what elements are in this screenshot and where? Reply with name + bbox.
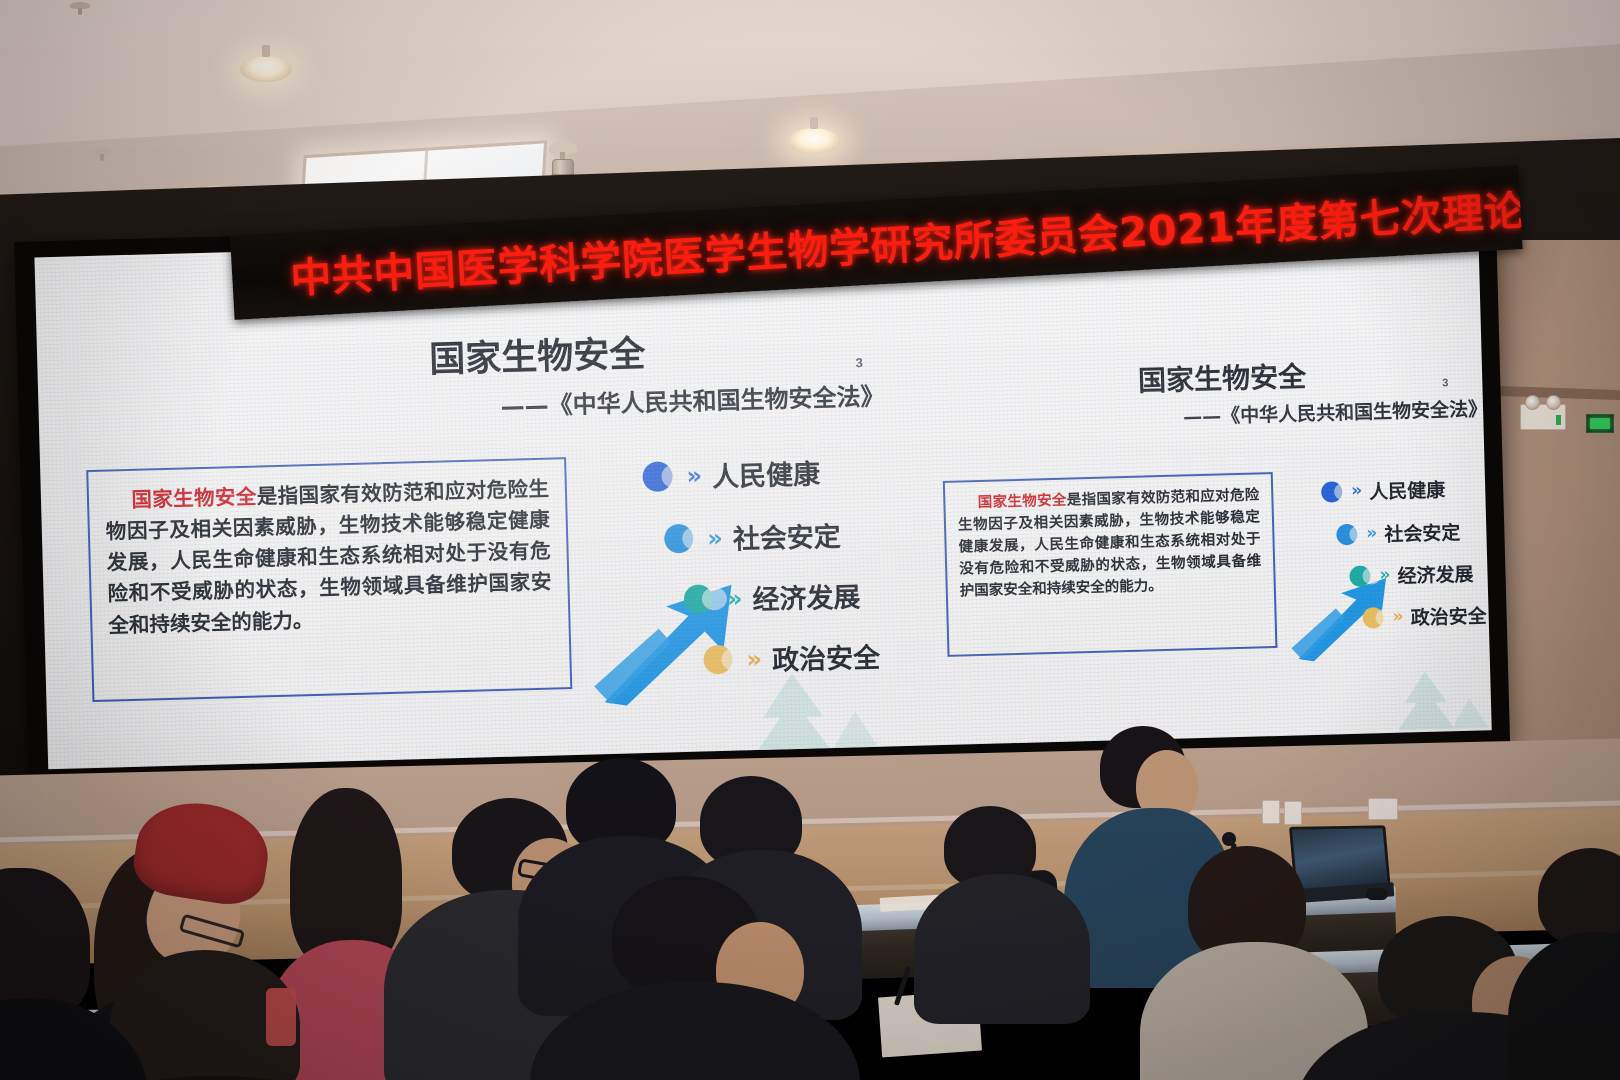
bullet-dot-icon (684, 584, 714, 614)
bullet-list: » 人民健康 » 社会安定 » 经济发展 » (1317, 474, 1487, 632)
pine-tree-decoration (1388, 664, 1492, 733)
wall-socket[interactable] (1284, 801, 1302, 825)
bullet-list: » 人民健康 » 社会安定 » 经济发展 » (636, 451, 880, 681)
microphone-capsule (1222, 832, 1236, 846)
exit-sign (1586, 414, 1614, 433)
definition-box: 国家生物安全是指国家有效防范和应对危险生物因子及相关因素威胁，生物技术能够稳定健… (943, 472, 1278, 657)
bullet-dot-icon (1321, 481, 1343, 503)
chevron-icon: » (686, 463, 702, 487)
slide-page-number: 3 (1442, 377, 1448, 389)
sprinkler-head (70, 2, 90, 12)
slide-left: 国家生物安全 ——《中华人民共和国生物安全法》 3 国家生物安全是指国家有效防范… (34, 234, 908, 769)
chevron-icon: » (746, 646, 762, 670)
ceiling-downlight (240, 56, 292, 82)
wall-socket[interactable] (1368, 798, 1398, 820)
sprinkler-head (92, 148, 112, 158)
chevron-icon: » (727, 586, 743, 610)
bullet-dot-icon (1336, 524, 1358, 546)
bullet-label: 社会安定 (732, 515, 841, 557)
ceiling-downlight (788, 128, 840, 154)
bullet-dot-icon (703, 645, 733, 675)
definition-term: 国家生物安全 (131, 485, 257, 512)
bullet-item: » 人民健康 (642, 451, 875, 496)
chevron-icon: » (1366, 525, 1377, 542)
chevron-icon: » (1351, 483, 1362, 500)
slide-title: 国家生物安全 (1138, 355, 1307, 400)
chevron-icon: » (1392, 609, 1403, 626)
computer-mouse[interactable] (1366, 888, 1388, 900)
slide-subtitle: ——《中华人民共和国生物安全法》 (500, 377, 885, 422)
bullet-item: » 人民健康 (1321, 474, 1484, 505)
bullet-dot-icon (1349, 565, 1371, 587)
slide-right-duplicate: 国家生物安全 ——《中华人民共和国生物安全法》 3 国家生物安全是指国家有效防范… (908, 218, 1492, 745)
bullet-label: 社会安定 (1384, 518, 1461, 547)
conference-hall-photo: 国家生物安全 ——《中华人民共和国生物安全法》 3 国家生物安全是指国家有效防范… (0, 0, 1620, 1080)
emergency-lamp-left (1525, 395, 1540, 410)
bullet-label: 经济发展 (1397, 560, 1474, 589)
torso (914, 874, 1090, 1024)
slide-page-number: 3 (855, 355, 863, 370)
chevron-icon: » (707, 525, 723, 549)
bullet-dot-icon (664, 524, 694, 554)
emergency-light (1520, 404, 1566, 430)
slide-title: 国家生物安全 (429, 325, 646, 383)
light-stem (262, 45, 270, 57)
chevron-icon: » (1379, 567, 1390, 584)
pine-tree-decoration (740, 666, 912, 757)
wall-socket[interactable] (1262, 800, 1280, 824)
bullet-item: » 社会安定 (1336, 517, 1485, 548)
bullet-item: » 政治安全 (1362, 601, 1487, 631)
slide-subtitle: ——《中华人民共和国生物安全法》 (1183, 394, 1488, 429)
bullet-label: 政治安全 (1410, 601, 1487, 630)
emergency-status-led (1556, 415, 1561, 425)
bullet-label: 人民健康 (1369, 475, 1446, 504)
emergency-lamp-right (1546, 395, 1561, 410)
bullet-label: 人民健康 (712, 452, 821, 494)
bullet-item: » 经济发展 (1349, 559, 1486, 590)
bullet-dot-icon (642, 461, 673, 492)
bullet-label: 经济发展 (752, 575, 861, 617)
bullet-dot-icon (1362, 607, 1384, 629)
definition-box: 国家生物安全是指国家有效防范和应对危险生物因子及相关因素威胁，生物技术能够稳定健… (86, 457, 572, 702)
bullet-item: » 社会安定 (664, 514, 877, 559)
bullet-item: » 经济发展 (683, 575, 878, 619)
definition-term: 国家生物安全 (977, 493, 1067, 511)
water-bottle[interactable] (266, 988, 296, 1046)
light-stem (810, 117, 818, 129)
